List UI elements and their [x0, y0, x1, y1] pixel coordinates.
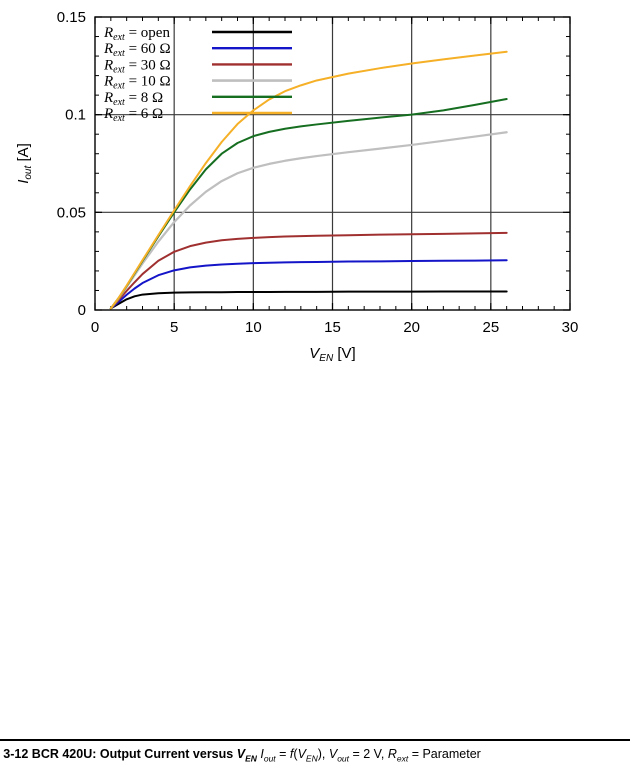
- caption-title: BCR 420U: Output Current versus: [32, 747, 233, 761]
- figure-chart: 05101520253000.050.10.15VEN [V]Iout [A]R…: [0, 0, 630, 365]
- caption-prefix: re 3-12: [0, 747, 28, 761]
- chart-svg: 05101520253000.050.10.15VEN [V]Iout [A]R…: [0, 0, 630, 365]
- x-tick-label: 5: [170, 319, 178, 336]
- y-tick-label: 0.05: [57, 204, 86, 221]
- legend-label: Rext = 6 Ω: [103, 106, 163, 124]
- y-tick-label: 0.1: [65, 107, 86, 124]
- y-axis-title: Iout [A]: [15, 143, 34, 184]
- x-tick-label: 30: [562, 319, 579, 336]
- x-tick-label: 20: [403, 319, 420, 336]
- caption-rest: = Parameter: [412, 747, 481, 761]
- caption-divider: [0, 739, 630, 741]
- figure-caption: re 3-12 BCR 420U: Output Current versus …: [0, 747, 628, 764]
- x-axis-title: VEN [V]: [309, 345, 355, 364]
- x-tick-label: 15: [324, 319, 341, 336]
- x-tick-label: 0: [91, 319, 99, 336]
- y-tick-label: 0.15: [57, 9, 86, 26]
- x-tick-label: 25: [482, 319, 499, 336]
- caption-area: re 3-12 BCR 420U: Output Current versus …: [0, 365, 630, 410]
- y-tick-label: 0: [78, 302, 86, 319]
- x-tick-label: 10: [245, 319, 262, 336]
